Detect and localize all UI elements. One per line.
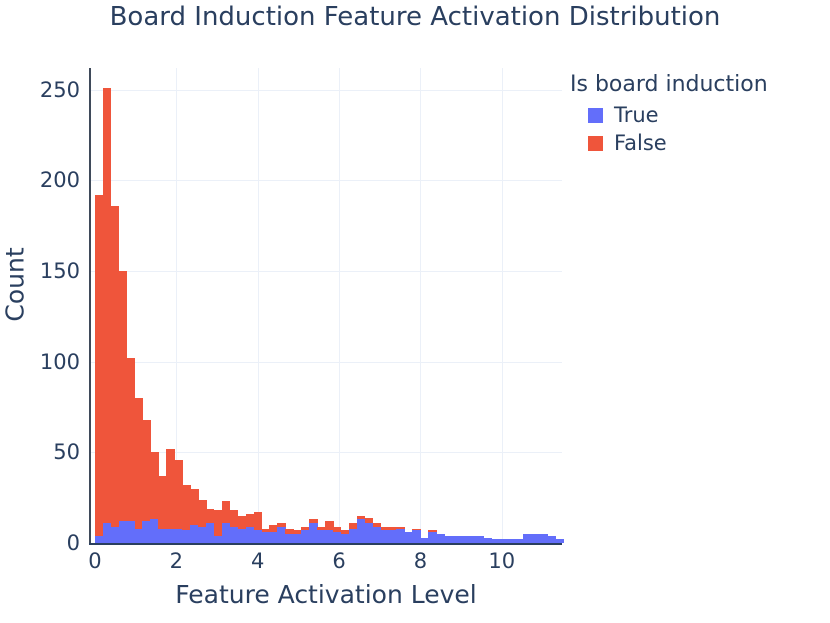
gridline-horizontal (90, 362, 562, 363)
x-axis-tick-label: 2 (151, 549, 201, 573)
x-axis-tick-label: 6 (314, 549, 364, 573)
gridline-vertical (258, 68, 259, 543)
legend-item-label: True (614, 103, 659, 127)
legend-item-false[interactable]: False (588, 131, 820, 155)
x-axis-tick-label: 8 (395, 549, 445, 573)
y-axis-tick-label: 50 (8, 440, 80, 464)
gridline-vertical (339, 68, 340, 543)
y-axis-tick-label: 250 (8, 78, 80, 102)
bar-segment-false (428, 530, 437, 532)
chart-title: Board Induction Feature Activation Distr… (0, 2, 830, 32)
gridline-vertical (502, 68, 503, 543)
gridline-horizontal (90, 90, 562, 91)
gridline-vertical (420, 68, 421, 543)
x-axis-tick-label: 0 (70, 549, 120, 573)
bar-segment-false (396, 527, 405, 529)
gridline-horizontal (90, 452, 562, 453)
x-axis-tick-label: 4 (233, 549, 283, 573)
bar-segment-false (309, 519, 318, 523)
gridline-horizontal (90, 180, 562, 181)
y-axis-tick-label: 0 (8, 531, 80, 555)
bar-segment-false (412, 529, 421, 531)
plot-area (90, 68, 562, 543)
gridline-horizontal (90, 271, 562, 272)
legend-item-true[interactable]: True (588, 103, 820, 127)
legend: Is board induction True False (570, 72, 820, 159)
y-axis-line (89, 68, 91, 543)
legend-title: Is board induction (570, 72, 820, 97)
legend-swatch-icon (588, 108, 603, 123)
chart-container: Board Induction Feature Activation Distr… (0, 0, 830, 623)
x-axis-line (89, 543, 562, 545)
legend-swatch-icon (588, 136, 603, 151)
y-axis-title: Count (1, 135, 30, 435)
x-axis-title: Feature Activation Level (90, 580, 562, 609)
x-axis-tick-label: 10 (477, 549, 527, 573)
bar-segment-false (277, 523, 286, 527)
legend-item-label: False (614, 131, 667, 155)
